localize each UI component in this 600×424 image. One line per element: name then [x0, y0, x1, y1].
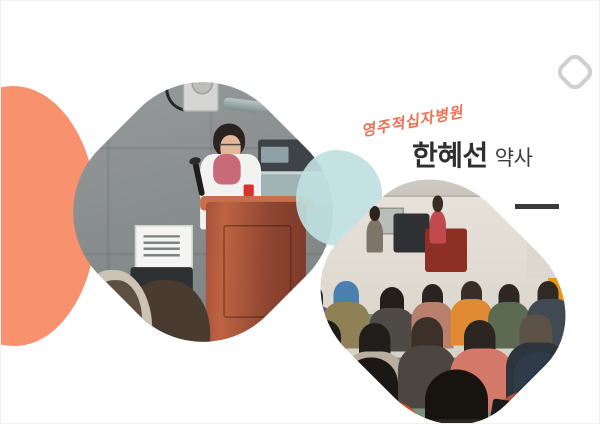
- rounded-diamond-icon: [554, 51, 596, 93]
- speaker-name: 한혜선: [412, 134, 488, 174]
- speaker-role: 약사: [495, 142, 533, 172]
- speaker-title-row: 한혜선 약사: [412, 134, 532, 174]
- poster-canvas: 영주적십자병원 한혜선 약사: [0, 0, 600, 424]
- title-underline-rule: [515, 204, 559, 209]
